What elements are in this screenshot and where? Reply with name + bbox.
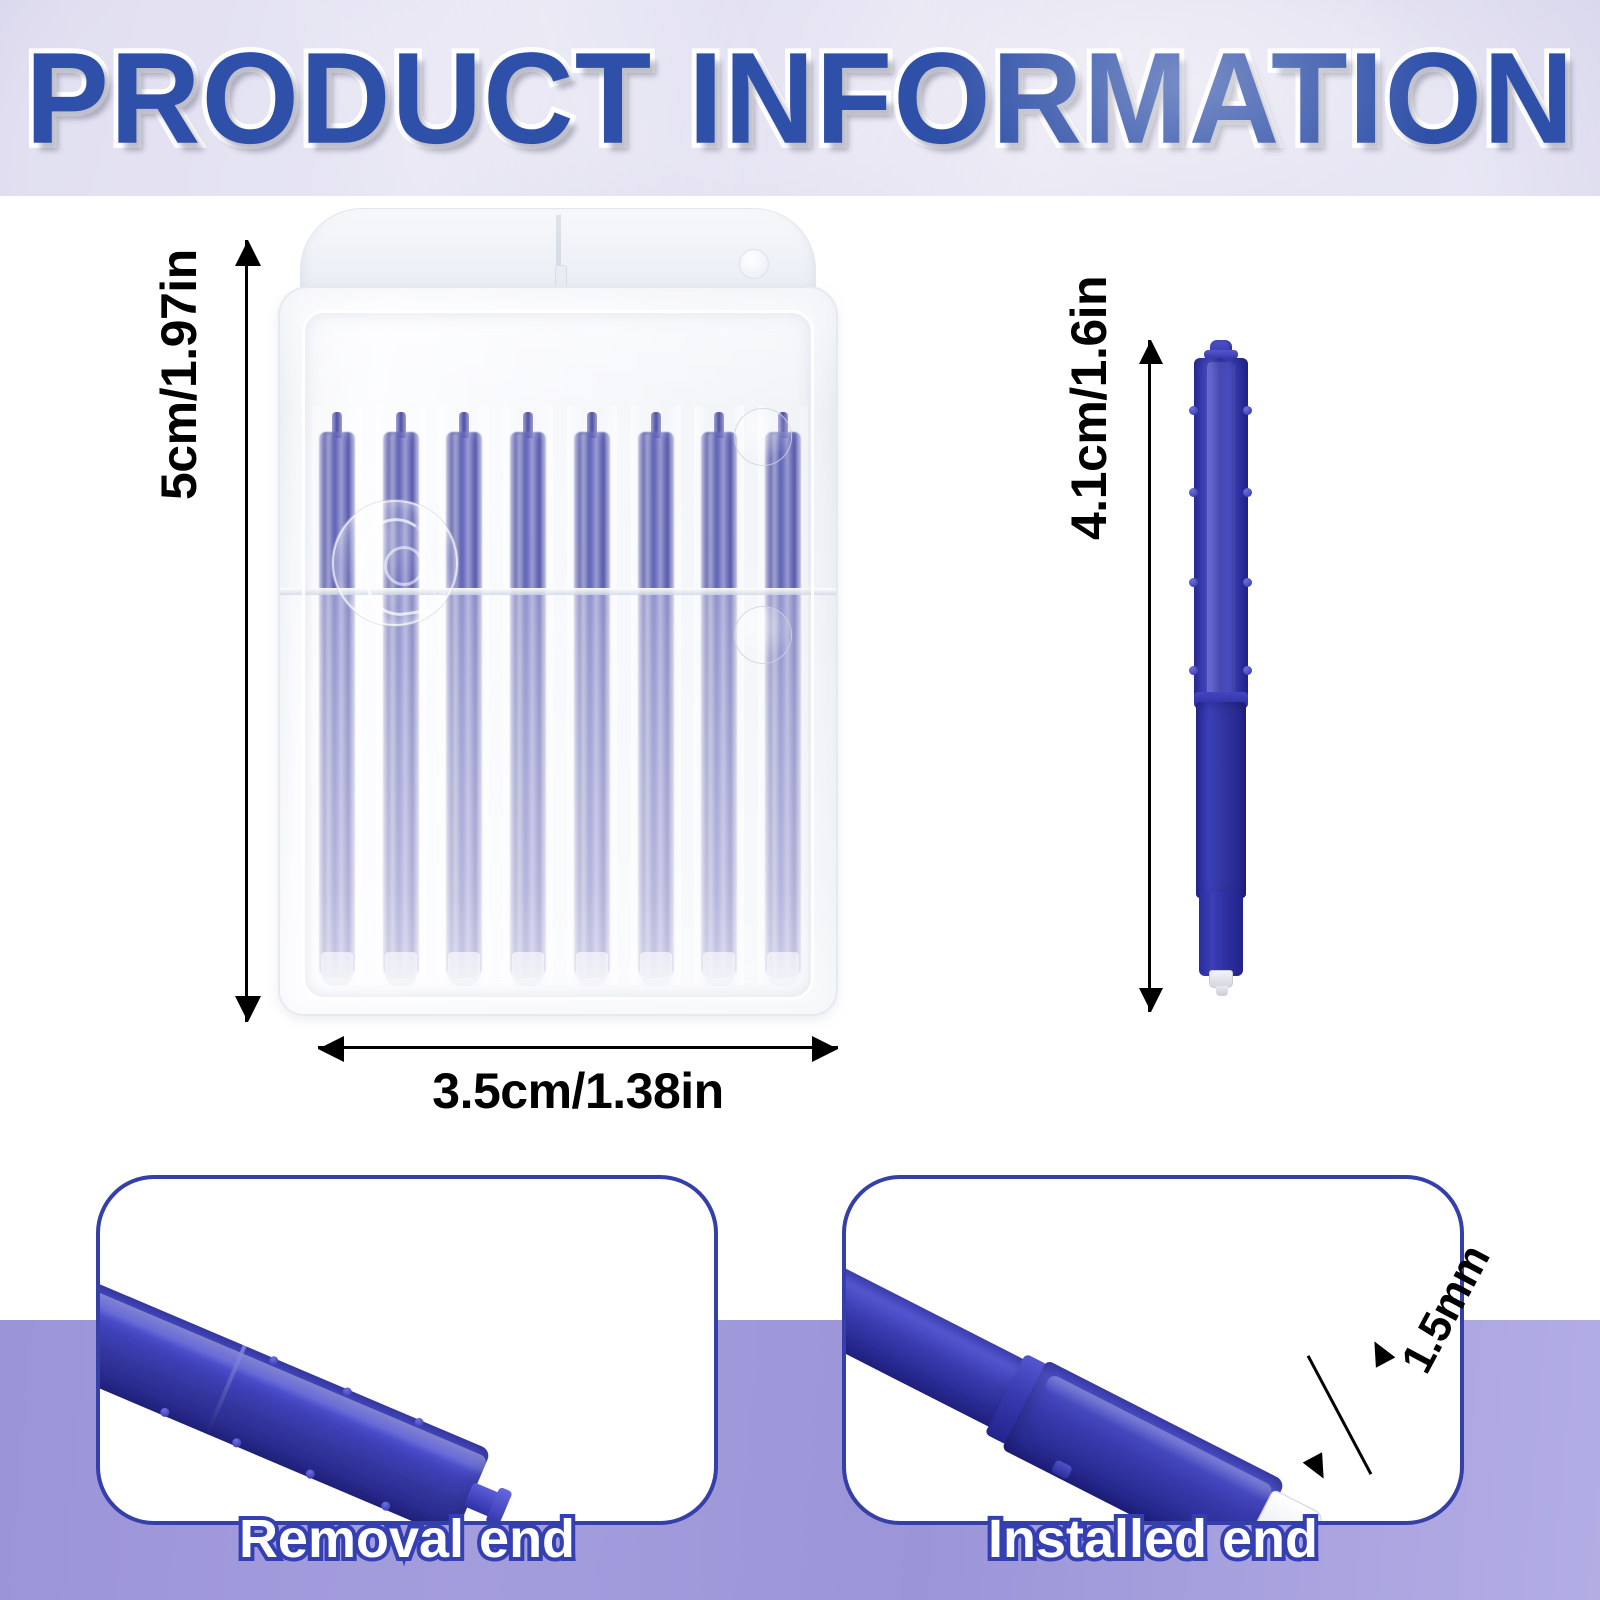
arrow-up-icon	[235, 240, 261, 266]
arrow-down-icon	[1139, 988, 1163, 1012]
refill-length-dimension-line	[1148, 340, 1151, 1012]
refill-nub	[1243, 666, 1252, 675]
case-height-label: 5cm/1.97in	[150, 249, 208, 500]
refill-upper-body	[1194, 358, 1248, 708]
refill-nub	[1243, 578, 1252, 587]
refill-nub	[1243, 406, 1252, 415]
removal-end-panel	[96, 1175, 718, 1525]
pen-front-section	[1002, 1360, 1286, 1525]
caption-removal-end: Removal end	[96, 1508, 718, 1570]
case-height-dimension-line	[245, 240, 248, 1022]
page-title: PRODUCT INFORMATION	[0, 0, 1600, 196]
refill-nub	[1189, 666, 1198, 675]
single-refill-image	[1190, 340, 1250, 1020]
case-inner-lip	[302, 310, 814, 1000]
refill-shoulder	[1199, 892, 1243, 976]
refill-nub	[1189, 578, 1198, 587]
case-width-label: 3.5cm/1.38in	[318, 1062, 838, 1120]
refill-lower-body	[1196, 702, 1246, 898]
product-information-page: PRODUCT INFORMATION	[0, 0, 1600, 1600]
arrow-right-icon	[812, 1036, 838, 1062]
refill-nub	[1189, 406, 1198, 415]
arrow-up-icon	[1139, 340, 1163, 364]
refill-white-tip	[1209, 970, 1233, 988]
installed-end-pen-image	[842, 1245, 1382, 1525]
arrow-down-icon	[235, 996, 261, 1022]
refill-length-label: 4.1cm/1.6in	[1060, 276, 1118, 540]
arrow-left-icon	[318, 1036, 344, 1062]
case-width-dimension-line	[318, 1046, 838, 1049]
removal-end-pen-image	[96, 1267, 574, 1525]
refill-nub	[1189, 488, 1198, 497]
case-lid-hole	[739, 249, 769, 279]
header-banner: PRODUCT INFORMATION	[0, 0, 1600, 196]
case-body	[278, 286, 838, 1016]
caption-installed-end: Installed end	[842, 1508, 1464, 1570]
refill-case-image	[278, 208, 838, 1018]
refill-nub	[1243, 488, 1252, 497]
pen-barrel	[96, 1267, 491, 1525]
